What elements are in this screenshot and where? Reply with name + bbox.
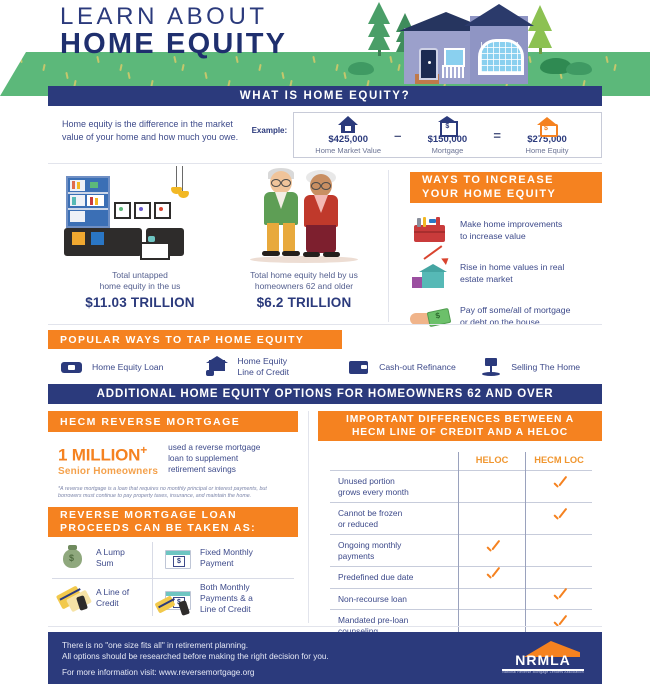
check-icon	[553, 591, 565, 603]
check-icon	[486, 570, 498, 582]
way-item-home-improvements: Make home improvements to increase value	[410, 215, 602, 246]
hand-with-cash-icon	[410, 301, 450, 332]
example-cell-home-equity: $ $275,000 Home Equity	[501, 116, 593, 155]
proceed-label-line-2: Payments & a	[200, 593, 253, 604]
divider	[388, 170, 389, 322]
proceed-label-line-1: A Lump	[96, 547, 125, 558]
pine-tree-icon	[368, 11, 390, 56]
popular-label-line-1: Home Equity	[237, 356, 289, 367]
living-room-illustration	[58, 166, 223, 271]
popular-item-label: Cash-out Refinance	[379, 362, 456, 373]
grass-blade-icon	[258, 64, 261, 71]
proceed-label-line-1: Fixed Monthly	[200, 547, 253, 558]
ways-to-increase-header: WAYS TO INCREASE YOUR HOME EQUITY	[410, 172, 602, 203]
hecm-desc-line-3: retirement savings	[168, 464, 260, 475]
comparison-section: IMPORTANT DIFFERENCES BETWEEN A HECM LIN…	[318, 411, 602, 441]
row-label-line-1: Predefined due date	[338, 572, 452, 583]
grass-blade-icon	[19, 56, 22, 63]
hecm-senior-label: Senior Homeowners	[58, 465, 158, 479]
row-label-line-1: Ongoing monthly	[338, 540, 452, 551]
cell-heloc	[458, 535, 525, 567]
check-icon	[553, 479, 565, 491]
additional-options-label: ADDITIONAL HOME EQUITY OPTIONS FOR HOMEO…	[97, 388, 554, 400]
for-sale-sign-icon	[479, 357, 503, 377]
table-row: Unused portion grows every month	[330, 471, 592, 503]
example-label-text: Mortgage	[401, 146, 493, 155]
proceeds-header: REVERSE MORTGAGE LOAN PROCEEDS CAN BE TA…	[48, 507, 298, 537]
hecm-million-plus: +	[140, 443, 147, 457]
check-icon	[553, 511, 565, 523]
check-and-card-icon: $	[160, 585, 194, 613]
wall-art-icon	[114, 202, 131, 219]
hecm-description: used a reverse mortgage loan to suppleme…	[168, 442, 260, 479]
grass-blade-icon	[335, 64, 338, 71]
table-header-row: HELOC HECM LOC	[330, 452, 592, 471]
proceed-label-line-2: Credit	[96, 598, 129, 609]
definition-row: Home equity is the difference in the mar…	[48, 112, 602, 160]
proceed-item-both: $ Both Monthly Payments & a Line of Cred…	[160, 582, 294, 615]
house-coin-icon	[205, 357, 229, 377]
table-row-label: Unused portion grows every month	[330, 471, 458, 503]
grass-blade-icon	[389, 56, 392, 63]
way-item-rising-values: Rise in home values in real estate marke…	[410, 258, 602, 289]
row-label-line-2: payments	[338, 551, 452, 562]
wall-art-icon	[154, 202, 171, 219]
table-col-empty	[330, 452, 458, 471]
example-label-text: Home Market Value	[302, 146, 394, 155]
definition-text: Home equity is the difference in the mar…	[48, 112, 252, 144]
proceed-item-lump-sum: A Lump Sum	[56, 544, 152, 572]
table-row-label: Ongoing monthly payments	[330, 535, 458, 567]
table-col-heloc: HELOC	[458, 452, 525, 471]
title-line-1: LEARN ABOUT	[60, 4, 287, 30]
wall-art-icon	[134, 202, 151, 219]
proceed-label: Both Monthly Payments & a Line of Credit	[200, 582, 253, 615]
grass-blade-icon	[281, 72, 284, 79]
way-text-line-1: Rise in home values in real	[460, 262, 564, 274]
table-row-label: Predefined due date	[330, 567, 458, 589]
hecm-header: HECM REVERSE MORTGAGE	[48, 411, 298, 432]
proceed-label-line-1: A Line of	[96, 587, 129, 598]
table-col-hecm-loc: HECM LOC	[526, 452, 592, 471]
bush-icon	[566, 62, 592, 75]
footer-line-1: There is no "one size fits all" in retir…	[62, 640, 329, 651]
money-icon	[60, 357, 84, 377]
grass-blade-icon	[65, 72, 68, 79]
cell-hecm	[526, 588, 592, 610]
comparison-table: HELOC HECM LOC Unused portion grows ever…	[330, 452, 592, 642]
example-box: $425,000 Home Market Value – $ $150,000 …	[293, 112, 602, 158]
way-item-text: Make home improvements to increase value	[460, 219, 562, 242]
example-label-text: Home Equity	[501, 146, 593, 155]
wallet-icon	[347, 357, 371, 377]
stat-caption: Total untapped	[70, 270, 210, 281]
proceed-item-fixed-monthly: $ Fixed Monthly Payment	[160, 544, 294, 572]
grass-blade-icon	[343, 72, 346, 79]
proceeds-grid: A Lump Sum $ Fixed Monthly Payment A Lin…	[48, 540, 298, 618]
cell-hecm	[526, 471, 592, 503]
banner-what-is-label: WHAT IS HOME EQUITY?	[240, 90, 410, 102]
grass-blade-icon	[397, 64, 400, 71]
proceed-label-line-2: Sum	[96, 558, 125, 569]
operator-minus: –	[394, 128, 401, 143]
operator-equals: =	[493, 128, 501, 143]
popular-item-cash-out-refinance: Cash-out Refinance	[347, 357, 479, 377]
hecm-stat-row: 1 MILLION+ Senior Homeowners used a reve…	[48, 441, 298, 479]
page-title: LEARN ABOUT HOME EQUITY	[60, 4, 287, 60]
cell-heloc	[458, 588, 525, 610]
popular-label-line-1: Home Equity Loan	[92, 362, 163, 373]
proceeds-header-line-1: REVERSE MORTGAGE LOAN	[60, 509, 256, 522]
cell-hecm	[526, 535, 592, 567]
cell-hecm	[526, 567, 592, 589]
footer-link[interactable]: For more information visit: www.reversem…	[62, 668, 254, 677]
table-row: Ongoing monthly payments	[330, 535, 592, 567]
way-item-text: Rise in home values in real estate marke…	[460, 262, 564, 285]
hecm-desc-line-2: loan to supplement	[168, 453, 260, 464]
comparison-header-line-1: IMPORTANT DIFFERENCES BETWEEN A	[346, 413, 574, 426]
grass-blade-icon	[613, 64, 616, 71]
hecm-desc-line-1: used a reverse mortgage	[168, 442, 260, 453]
row-label-line-1: Cannot be frozen	[338, 508, 452, 519]
grass-blade-icon	[204, 72, 207, 79]
popular-item-label: Home Equity Loan	[92, 362, 163, 373]
grass-blade-icon	[181, 64, 184, 71]
row-label-line-1: Mandated pre-loan	[338, 615, 452, 626]
cell-heloc	[458, 503, 525, 535]
row-label-line-1: Unused portion	[338, 476, 452, 487]
proceed-label: A Lump Sum	[96, 547, 125, 569]
cell-hecm	[526, 503, 592, 535]
credit-card-icon	[56, 584, 90, 612]
stat-caption: home equity in the us	[70, 281, 210, 292]
hecm-million-value: 1 MILLION+	[58, 441, 158, 465]
proceed-item-line-of-credit: A Line of Credit	[56, 584, 152, 612]
way-item-pay-off-mortgage: Pay off some/all of mortgage or debt on …	[410, 301, 602, 332]
way-text-line-1: Pay off some/all of mortgage	[460, 305, 570, 317]
stat-caption: Total home equity held by us	[230, 270, 378, 281]
popular-item-label: Home Equity Line of Credit	[237, 356, 289, 378]
coffee-table-icon	[140, 242, 170, 260]
hecm-million-number: 1 MILLION	[58, 446, 140, 465]
check-icon	[486, 543, 498, 555]
way-text-line-1: Make home improvements	[460, 219, 562, 231]
proceed-label-line-2: Payment	[200, 558, 253, 569]
proceed-label-line-1: Both Monthly	[200, 582, 253, 593]
table-row: Cannot be frozen or reduced	[330, 503, 592, 535]
banner-popular-ways: POPULAR WAYS TO TAP HOME EQUITY	[48, 330, 342, 349]
house-icon	[338, 116, 358, 133]
proceed-label: A Line of Credit	[96, 587, 129, 609]
money-bag-icon	[56, 544, 90, 572]
proceeds-section: REVERSE MORTGAGE LOAN PROCEEDS CAN BE TA…	[48, 507, 298, 537]
ways-to-increase-section: WAYS TO INCREASE YOUR HOME EQUITY Make h…	[410, 172, 602, 332]
popular-item-line-of-credit: Home Equity Line of Credit	[205, 356, 347, 378]
rising-home-value-icon	[410, 258, 450, 289]
popular-item-selling-the-home: Selling The Home	[479, 357, 602, 377]
stat-equity-62-and-older: Total home equity held by us homeowners …	[230, 270, 378, 310]
bank-icon: $	[438, 116, 456, 133]
stat-untapped-equity: Total untapped home equity in the us $11…	[70, 270, 210, 310]
stat-caption: homeowners 62 and older	[230, 281, 378, 292]
table-row-label: Non-recourse loan	[330, 588, 458, 610]
row-label-line-2: grows every month	[338, 487, 452, 498]
popular-label-line-1: Cash-out Refinance	[379, 362, 456, 373]
way-text-line-2: to increase value	[460, 231, 562, 243]
popular-item-home-equity-loan: Home Equity Loan	[48, 357, 205, 377]
footer: There is no "one size fits all" in retir…	[48, 632, 602, 684]
grass-blade-icon	[312, 56, 315, 63]
example-cell-market-value: $425,000 Home Market Value	[302, 116, 394, 155]
ways-header-line-1: WAYS TO INCREASE	[422, 174, 556, 188]
bush-icon	[348, 62, 374, 75]
stat-value: $11.03 TRILLION	[70, 295, 210, 310]
divider	[308, 411, 309, 623]
nrmla-logo: NRMLA National Reverse Mortgage Lenders …	[498, 642, 588, 676]
grass-blade-icon	[119, 64, 122, 71]
ways-header-line-2: YOUR HOME EQUITY	[422, 188, 556, 202]
footer-line-2: All options should be researched before …	[62, 651, 329, 662]
infographic-page: LEARN ABOUT HOME EQUITY WHAT IS HOME EQU…	[0, 0, 650, 691]
divider	[48, 626, 602, 627]
check-icon: $	[160, 544, 194, 572]
divider	[48, 324, 602, 325]
popular-label-line-1: Selling The Home	[511, 362, 580, 373]
popular-ways-list: Home Equity Loan Home Equity Line of Cre…	[48, 354, 602, 380]
way-text-line-2: or debt on the house	[460, 317, 570, 329]
senior-couple-illustration	[244, 164, 364, 272]
comparison-header: IMPORTANT DIFFERENCES BETWEEN A HECM LIN…	[318, 411, 602, 441]
nrmla-wordmark: NRMLA	[498, 652, 588, 668]
check-icon	[553, 618, 565, 630]
popular-label-line-2: Line of Credit	[237, 367, 289, 378]
hero-banner: LEARN ABOUT HOME EQUITY	[0, 0, 650, 96]
example-amount: $425,000	[302, 134, 394, 145]
stats-section: Total untapped home equity in the us $11…	[48, 166, 378, 321]
example-cell-mortgage: $ $150,000 Mortgage	[401, 116, 493, 155]
row-label-line-1: Non-recourse loan	[338, 594, 452, 605]
banner-what-is-home-equity: WHAT IS HOME EQUITY?	[48, 86, 602, 106]
nrmla-subtitle: National Reverse Mortgage Lenders Associ…	[498, 670, 588, 674]
grass-blade-icon	[127, 72, 130, 79]
hecm-reverse-mortgage-section: HECM REVERSE MORTGAGE 1 MILLION+ Senior …	[48, 411, 298, 500]
popular-ways-label: POPULAR WAYS TO TAP HOME EQUITY	[60, 334, 304, 346]
senior-woman-icon	[298, 170, 346, 258]
hecm-header-label: HECM REVERSE MORTGAGE	[60, 416, 240, 428]
table-row: Non-recourse loan	[330, 588, 592, 610]
proceed-label: Fixed Monthly Payment	[200, 547, 253, 569]
hecm-disclaimer: *A reverse mortgage is a loan that requi…	[48, 486, 286, 500]
table-row-label: Cannot be frozen or reduced	[330, 503, 458, 535]
comparison-header-line-2: HECM LINE OF CREDIT AND A HELOC	[346, 426, 574, 439]
example-label: Example:	[252, 112, 294, 135]
grass-blade-icon	[42, 64, 45, 71]
footer-text: There is no "one size fits all" in retir…	[62, 640, 329, 662]
stat-value: $6.2 TRILLION	[230, 295, 378, 310]
popular-item-label: Selling The Home	[511, 362, 580, 373]
proceed-label-line-3: Line of Credit	[200, 604, 253, 615]
banner-additional-options: ADDITIONAL HOME EQUITY OPTIONS FOR HOMEO…	[48, 384, 602, 404]
toolbox-icon	[410, 215, 450, 246]
cell-heloc	[458, 471, 525, 503]
table-row: Predefined due date	[330, 567, 592, 589]
pendant-lamp-icon	[168, 166, 192, 200]
grass-blade-icon	[605, 56, 608, 63]
proceeds-header-line-2: PROCEEDS CAN BE TAKEN AS:	[60, 522, 256, 535]
row-label-line-2: or reduced	[338, 519, 452, 530]
way-text-line-2: estate market	[460, 274, 564, 286]
house-dollar-icon: $	[537, 116, 557, 133]
cell-heloc	[458, 567, 525, 589]
title-line-2: HOME EQUITY	[60, 29, 287, 60]
house-illustration	[404, 6, 529, 84]
